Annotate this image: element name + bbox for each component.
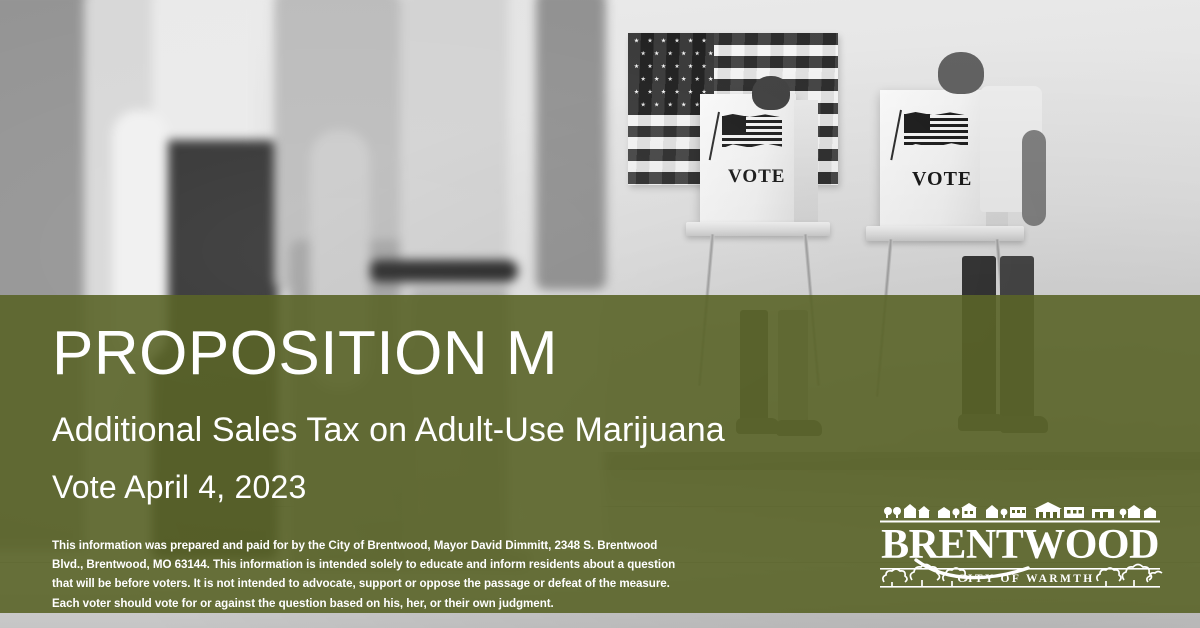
city-skyline-icon <box>884 502 1156 518</box>
disclaimer-line-1: This information was prepared and paid f… <box>52 536 702 555</box>
logo-mid-rule <box>880 568 1160 570</box>
vote-date: Vote April 4, 2023 <box>52 470 306 505</box>
campaign-banner: VOTE VOTE <box>0 0 1200 628</box>
page-title: PROPOSITION M <box>52 322 558 385</box>
disclaimer-line-4: Each voter should vote for or against th… <box>52 594 702 613</box>
brentwood-logo: BRENTWOOD CITY <box>876 502 1164 594</box>
logo-tagline: CITY OF WARMTH <box>957 573 1094 585</box>
logo-wordmark: BRENTWOOD <box>881 522 1159 568</box>
disclaimer-line-3: that will be before voters. It is not in… <box>52 574 702 593</box>
disclaimer-line-2: Blvd., Brentwood, MO 63144. This informa… <box>52 555 702 574</box>
page-subtitle: Additional Sales Tax on Adult-Use Mariju… <box>52 412 725 449</box>
disclaimer-text: This information was prepared and paid f… <box>52 536 702 613</box>
